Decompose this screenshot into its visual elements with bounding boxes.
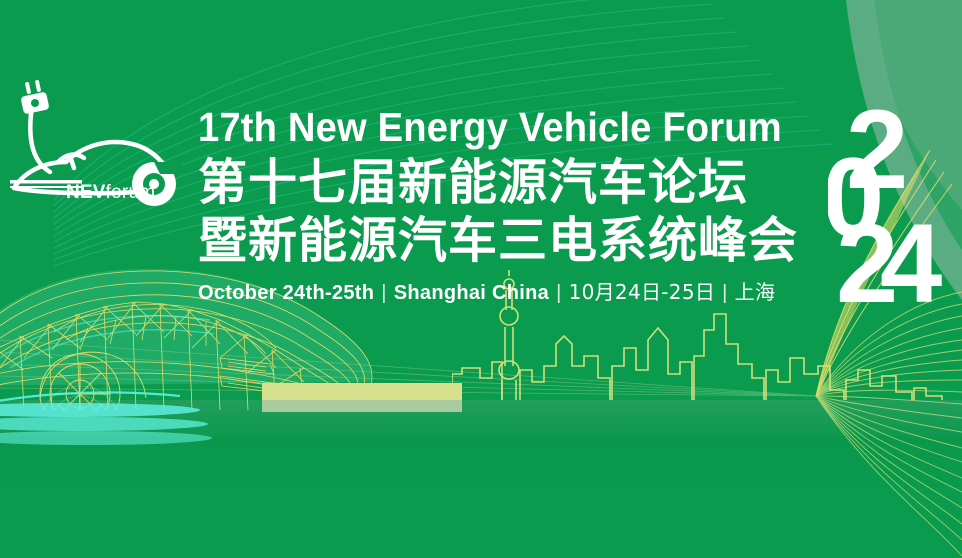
title-block: 17th New Energy Vehicle Forum 第十七届新能源汽车论… <box>198 104 838 305</box>
detail-separator-3: | <box>722 282 728 304</box>
event-details: October 24th-25th|Shanghai China|10月24日-… <box>198 280 838 305</box>
title-chinese-line-2: 暨新能源汽车三电系统峰会 <box>198 212 838 269</box>
title-english: 17th New Energy Vehicle Forum <box>198 104 793 150</box>
year-2024-graphic: 2 0 2 4 <box>828 96 954 306</box>
logo-wordmark: NEVforum <box>66 182 155 204</box>
location-chinese: 上海 <box>735 280 776 304</box>
date-english: October 24th-25th <box>198 282 374 304</box>
detail-separator-1: | <box>381 282 387 304</box>
location-english: Shanghai China <box>394 282 549 304</box>
logo-wordmark-nev: NEV <box>66 182 106 203</box>
year-digit-4: 4 <box>880 201 942 306</box>
date-chinese: 10月24日-25日 <box>569 280 716 304</box>
detail-separator-2: | <box>556 282 562 304</box>
accent-bar-reflection <box>262 400 462 412</box>
logo-wordmark-forum: forum <box>106 182 156 203</box>
cyan-light-streaks <box>0 403 212 445</box>
accent-bar <box>262 383 462 400</box>
event-poster: NEVforum 2 0 2 4 17th New Energy Vehicle… <box>0 0 962 558</box>
title-chinese-line-1: 第十七届新能源汽车论坛 <box>198 154 838 211</box>
